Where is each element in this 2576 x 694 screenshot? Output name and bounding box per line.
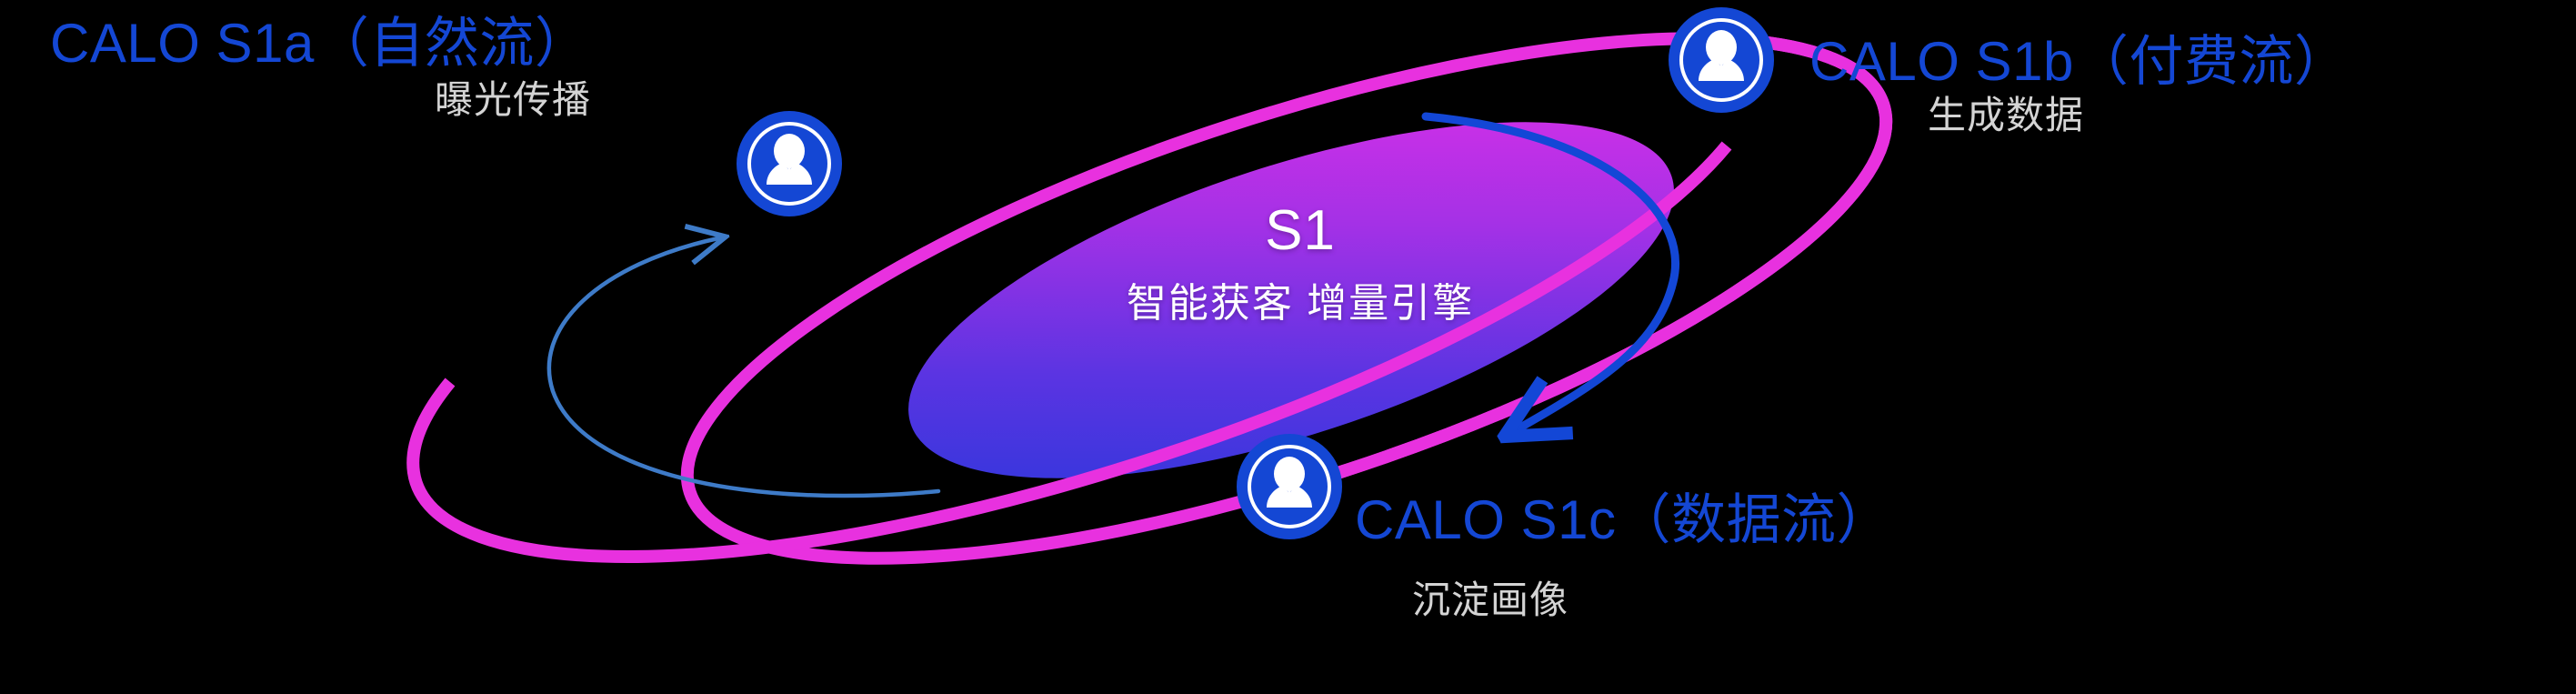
node-badge-s1b[interactable] [1669,7,1774,113]
node-subtitle-s1a: 曝光传播 [435,80,591,120]
orbit-diagram-svg [0,0,2576,694]
node-title-s1b: CALO S1b（付费流） [1809,33,2349,90]
node-title-s1a: CALO S1a（自然流） [50,15,589,72]
node-subtitle-s1c: 沉淀画像 [1412,580,1569,620]
node-title-s1c: CALO S1c（数据流） [1355,491,1891,548]
node-subtitle-s1b: 生成数据 [1928,96,2084,136]
diagram-canvas: S1 智能获客 增量引擎 CALO S1a（自然流） 曝光传播 CALO S1b… [0,0,2576,694]
node-badge-s1c[interactable] [1237,434,1342,539]
node-badge-s1a[interactable] [737,111,842,216]
